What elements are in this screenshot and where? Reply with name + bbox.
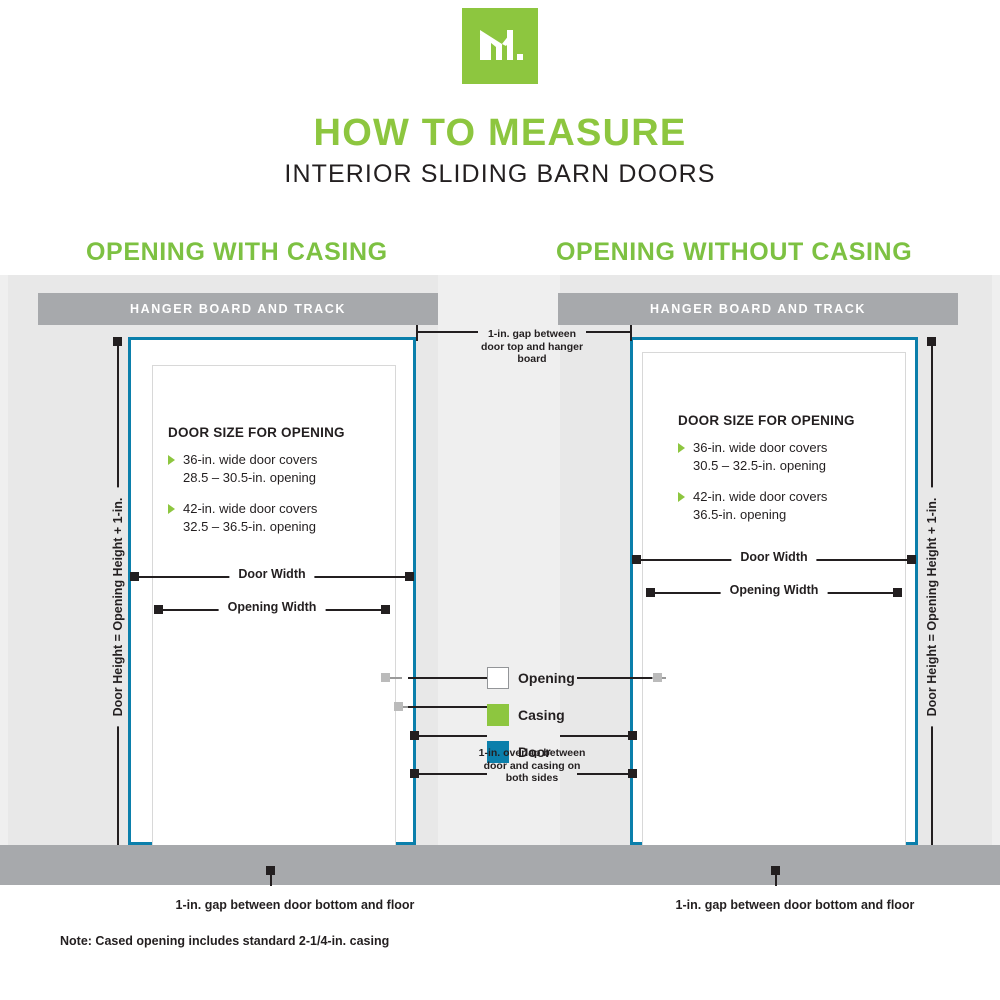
dimension-endcap [927,337,936,346]
callout-left-item-2: 42-in. wide door covers 32.5 – 36.5-in. … [168,500,378,536]
leader-tick-bottom-right [775,870,777,886]
dimension-door-height-right: Door Height = Opening Height + 1-in. [925,337,939,877]
leader-tick-bottom-left [270,870,272,886]
dimension-endcap [405,572,414,581]
dimension-label: Door Height = Opening Height + 1-in. [925,488,939,727]
leader-endcap-casing-left [394,702,403,711]
dimension-endcap [632,555,641,564]
callout-right-item-2-text: 42-in. wide door covers 36.5-in. opening [693,488,827,524]
callout-left-item-2-line1: 42-in. wide door covers [183,501,317,516]
callout-left-item-1-text: 36-in. wide door covers 28.5 – 30.5-in. … [183,451,317,487]
leader-endcap-door-right [628,731,637,740]
leader-endcap-overlap-left [410,769,419,778]
footer-note: Note: Cased opening includes standard 2-… [60,934,560,948]
dimension-endcap [154,605,163,614]
legend-item-casing: Casing [487,704,577,726]
callout-right-item-1-text: 36-in. wide door covers 30.5 – 32.5-in. … [693,439,827,475]
dimension-endcap [646,588,655,597]
leader-opening-left-stub [388,677,402,679]
note-overlap: 1-in. overlap between door and casing on… [478,747,586,785]
section-title-opening-without-casing: OPENING WITHOUT CASING [556,238,912,267]
leader-tick-top-right [630,325,632,341]
dimension-door-width-left: Door Width [130,570,414,584]
dimension-opening-width-left: Opening Width [154,603,390,617]
dimension-label: Door Width [731,550,816,564]
note-top-gap: 1-in. gap between door top and hanger bo… [478,328,586,366]
triangle-bullet-icon [168,455,175,465]
legend-item-opening: Opening [487,667,577,689]
dimension-endcap [381,605,390,614]
dimension-label: Opening Width [721,583,828,597]
leader-overlap-left [414,773,487,775]
callout-left-item-1: 36-in. wide door covers 28.5 – 30.5-in. … [168,451,378,487]
callout-left-title: DOOR SIZE FOR OPENING [168,425,378,440]
callout-right-item-2: 42-in. wide door covers 36.5-in. opening [678,488,888,524]
caption-bottom-gap-left: 1-in. gap between door bottom and floor [100,898,490,912]
leader-line-top-gap-right [586,331,630,333]
section-title-opening-with-casing: OPENING WITH CASING [86,238,388,267]
callout-right-title: DOOR SIZE FOR OPENING [678,413,888,428]
dimension-label: Door Height = Opening Height + 1-in. [111,488,125,727]
leader-casing-left [408,706,487,708]
callout-right-item-2-line2: 36.5-in. opening [693,507,786,522]
dimension-label: Opening Width [219,600,326,614]
dimension-endcap [893,588,902,597]
callout-left-item-1-line1: 36-in. wide door covers [183,452,317,467]
leader-opening-right [577,677,652,679]
dimension-endcap [130,572,139,581]
callout-left-item-2-text: 42-in. wide door covers 32.5 – 36.5-in. … [183,500,317,536]
legend-label-opening: Opening [518,670,575,686]
leader-endcap-opening-right [653,673,662,682]
dimension-endcap [113,337,122,346]
callout-right-item-1-line1: 36-in. wide door covers [693,440,827,455]
triangle-bullet-icon [678,492,685,502]
leader-door-left [414,735,487,737]
callout-right-item-1-line2: 30.5 – 32.5-in. opening [693,458,826,473]
page-subtitle: INTERIOR SLIDING BARN DOORS [0,160,1000,189]
hanger-board-right: HANGER BOARD AND TRACK [558,293,958,325]
leader-endcap-door-left [410,731,419,740]
dimension-door-height-left: Door Height = Opening Height + 1-in. [111,337,125,877]
callout-left-item-2-line2: 32.5 – 36.5-in. opening [183,519,316,534]
leader-tick-top-left [416,325,418,341]
diagram-canvas: HANGER BOARD AND TRACK HANGER BOARD AND … [0,275,1000,885]
callout-left: DOOR SIZE FOR OPENING 36-in. wide door c… [168,425,378,549]
leader-endcap-opening-left [381,673,390,682]
triangle-bullet-icon [168,504,175,514]
page-title: HOW TO MEASURE [0,112,1000,155]
dimension-endcap [907,555,916,564]
legend-swatch-opening-icon [487,667,509,689]
legend-swatch-casing-icon [487,704,509,726]
leader-line-top-gap-left [416,331,478,333]
callout-left-item-1-line2: 28.5 – 30.5-in. opening [183,470,316,485]
callout-right-item-2-line1: 42-in. wide door covers [693,489,827,504]
callout-right: DOOR SIZE FOR OPENING 36-in. wide door c… [678,413,888,537]
dimension-label: Door Width [229,567,314,581]
leader-opening-left [408,677,487,679]
hanger-board-left: HANGER BOARD AND TRACK [38,293,438,325]
brand-logo [462,8,538,84]
callout-right-item-1: 36-in. wide door covers 30.5 – 32.5-in. … [678,439,888,475]
legend-label-casing: Casing [518,707,565,723]
floor-band [0,845,1000,885]
caption-bottom-gap-right: 1-in. gap between door bottom and floor [600,898,990,912]
dimension-opening-width-right: Opening Width [646,586,902,600]
dimension-door-width-right: Door Width [632,553,916,567]
leader-endcap-overlap-right [628,769,637,778]
triangle-bullet-icon [678,443,685,453]
